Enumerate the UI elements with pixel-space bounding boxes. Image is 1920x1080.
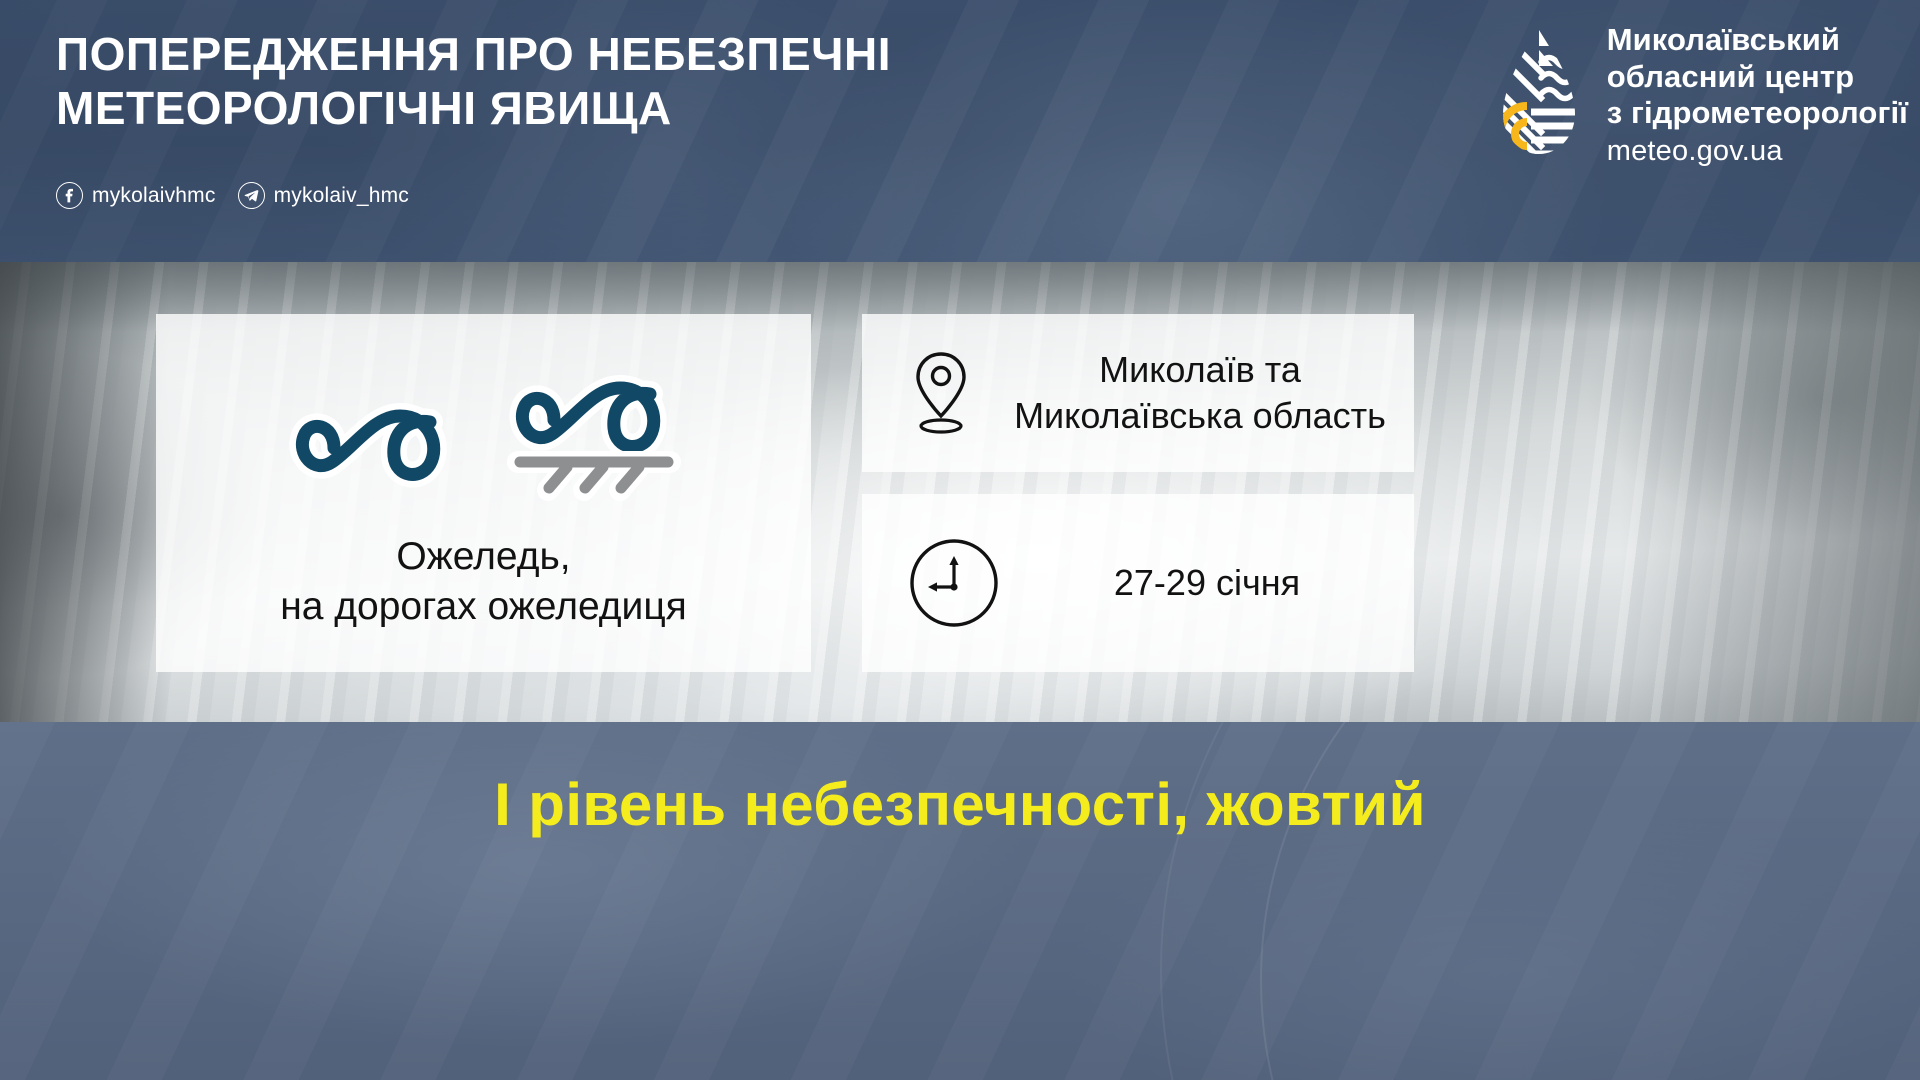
organization-name-line-2: обласний центр <box>1607 59 1908 96</box>
organization-name-block: Миколаївський обласний центр з гідромете… <box>1607 22 1908 169</box>
organization-website-url[interactable]: meteo.gov.ua <box>1607 135 1783 167</box>
social-links: mykolaivhmc mykolaiv_hmc <box>56 182 409 209</box>
organization-name-line-3: з гідрометеорології <box>1607 95 1908 132</box>
social-handle-telegram: mykolaiv_hmc <box>274 185 409 206</box>
water-droplet-logo-icon <box>1491 26 1587 168</box>
facebook-icon <box>56 182 83 209</box>
main-content-band: Ожеледь, на дорогах ожеледиця Миколаїв т… <box>0 262 1920 722</box>
road-left-shading <box>0 262 170 722</box>
footer-banner: І рівень небезпечності, жовтий <box>0 722 1920 1080</box>
region-card: Миколаїв та Миколаївська область <box>862 314 1414 472</box>
social-handle-facebook: mykolaivhmc <box>92 185 216 206</box>
phenomenon-line-2: на дорогах ожеледиця <box>280 582 687 632</box>
weather-warning-poster: ПОПЕРЕДЖЕННЯ ПРО НЕБЕЗПЕЧНІ МЕТЕОРОЛОГІЧ… <box>0 0 1920 1080</box>
phenomenon-card: Ожеледь, на дорогах ожеледиця <box>156 314 811 672</box>
page-title: ПОПЕРЕДЖЕННЯ ПРО НЕБЕЗПЕЧНІ МЕТЕОРОЛОГІЧ… <box>56 28 996 136</box>
glaze-ice-icon <box>284 394 464 502</box>
region-line-1: Миколаїв та <box>998 347 1402 393</box>
page-title-line-1: ПОПЕРЕДЖЕННЯ ПРО НЕБЕЗПЕЧНІ <box>56 28 996 82</box>
region-description: Миколаїв та Миколаївська область <box>998 347 1414 439</box>
period-card: 27-29 січня <box>862 494 1414 672</box>
telegram-icon <box>238 182 265 209</box>
phenomenon-description: Ожеледь, на дорогах ожеледиця <box>280 532 687 632</box>
organization-logo-block: Миколаївський обласний центр з гідромете… <box>1491 22 1908 169</box>
clock-icon <box>906 535 1002 631</box>
danger-level-text: І рівень небезпечності, жовтий <box>0 772 1920 838</box>
road-ice-icon <box>504 374 684 502</box>
header-banner: ПОПЕРЕДЖЕННЯ ПРО НЕБЕЗПЕЧНІ МЕТЕОРОЛОГІЧ… <box>0 0 1920 262</box>
phenomenon-icon-row <box>284 370 684 502</box>
road-right-shading <box>1620 262 1920 722</box>
phenomenon-line-1: Ожеледь, <box>280 532 687 582</box>
page-title-line-2: МЕТЕОРОЛОГІЧНІ ЯВИЩА <box>56 82 996 136</box>
location-pin-icon <box>910 348 972 438</box>
social-link-telegram[interactable]: mykolaiv_hmc <box>238 182 409 209</box>
period-value: 27-29 січня <box>1040 561 1414 604</box>
social-link-facebook[interactable]: mykolaivhmc <box>56 182 216 209</box>
organization-name-line-1: Миколаївський <box>1607 22 1908 59</box>
region-line-2: Миколаївська область <box>998 393 1402 439</box>
